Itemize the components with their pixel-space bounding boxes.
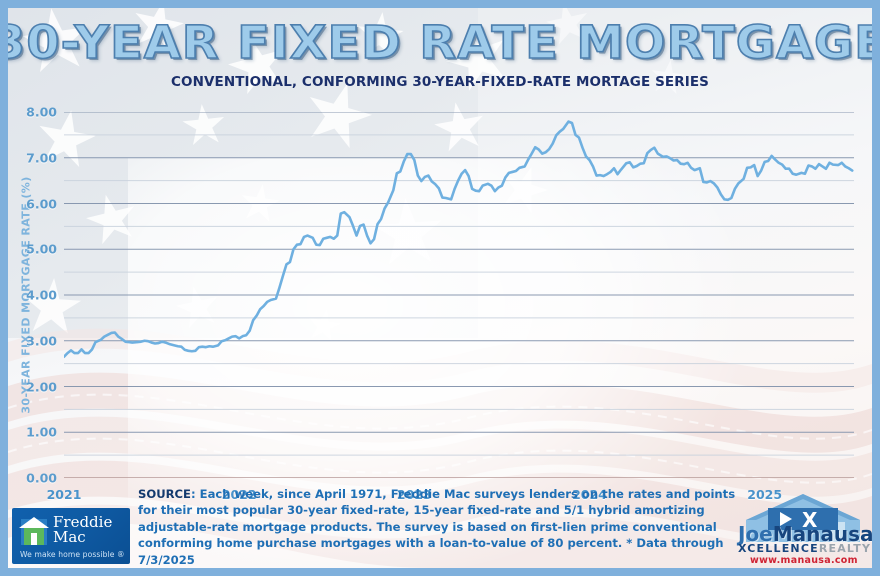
chart-plot-svg xyxy=(64,112,854,478)
chart-canvas: 30-YEAR FIXED RATE MORTGAGE CONVENTIONAL… xyxy=(8,8,872,568)
y-tick-label: 8.00 xyxy=(26,105,57,120)
manausa-tagline: XCELLENCEREALTY xyxy=(738,542,871,555)
freddie-mac-tagline: We make home possible ® xyxy=(20,550,125,559)
source-label: SOURCE xyxy=(138,487,191,501)
page-subtitle: CONVENTIONAL, CONFORMING 30-YEAR-FIXED-R… xyxy=(8,74,872,90)
y-tick-label: 3.00 xyxy=(26,333,57,348)
y-tick-label: 2.00 xyxy=(26,379,57,394)
plot-area: 0.001.002.003.004.005.006.007.008.00 202… xyxy=(64,112,854,478)
chart-frame: 30-YEAR FIXED RATE MORTGAGE CONVENTIONAL… xyxy=(0,0,880,576)
freddie-mac-logo[interactable]: Freddie Mac We make home possible ® xyxy=(12,508,130,564)
y-tick-label: 4.00 xyxy=(26,288,57,303)
manausa-name: JoeManausa xyxy=(738,524,872,544)
rate-line-series xyxy=(64,122,852,357)
manausa-logo[interactable]: X JoeManausa XCELLENCEREALTY www.manausa… xyxy=(736,490,870,566)
source-note: SOURCE: Each week, since April 1971, Fre… xyxy=(138,486,750,568)
freddie-mac-wordmark: Freddie Mac xyxy=(53,515,112,546)
footer: SOURCE: Each week, since April 1971, Fre… xyxy=(8,480,872,568)
manausa-url: www.manausa.com xyxy=(750,555,858,566)
y-tick-label: 7.00 xyxy=(26,150,57,165)
page-title: 30-YEAR FIXED RATE MORTGAGE xyxy=(8,20,872,65)
freddie-mac-roof-icon xyxy=(19,517,49,528)
source-text: : Each week, since April 1971, Freddie M… xyxy=(138,487,735,567)
manausa-tagline-light: REALTY xyxy=(819,542,871,555)
y-tick-label: 1.00 xyxy=(26,425,57,440)
freddie-mac-door-icon xyxy=(31,533,37,545)
manausa-tagline-bold: XCELLENCE xyxy=(738,542,819,555)
y-tick-label: 6.00 xyxy=(26,196,57,211)
freddie-mac-line2: Mac xyxy=(53,530,112,545)
y-tick-label: 5.00 xyxy=(26,242,57,257)
gridlines-major xyxy=(64,112,854,478)
